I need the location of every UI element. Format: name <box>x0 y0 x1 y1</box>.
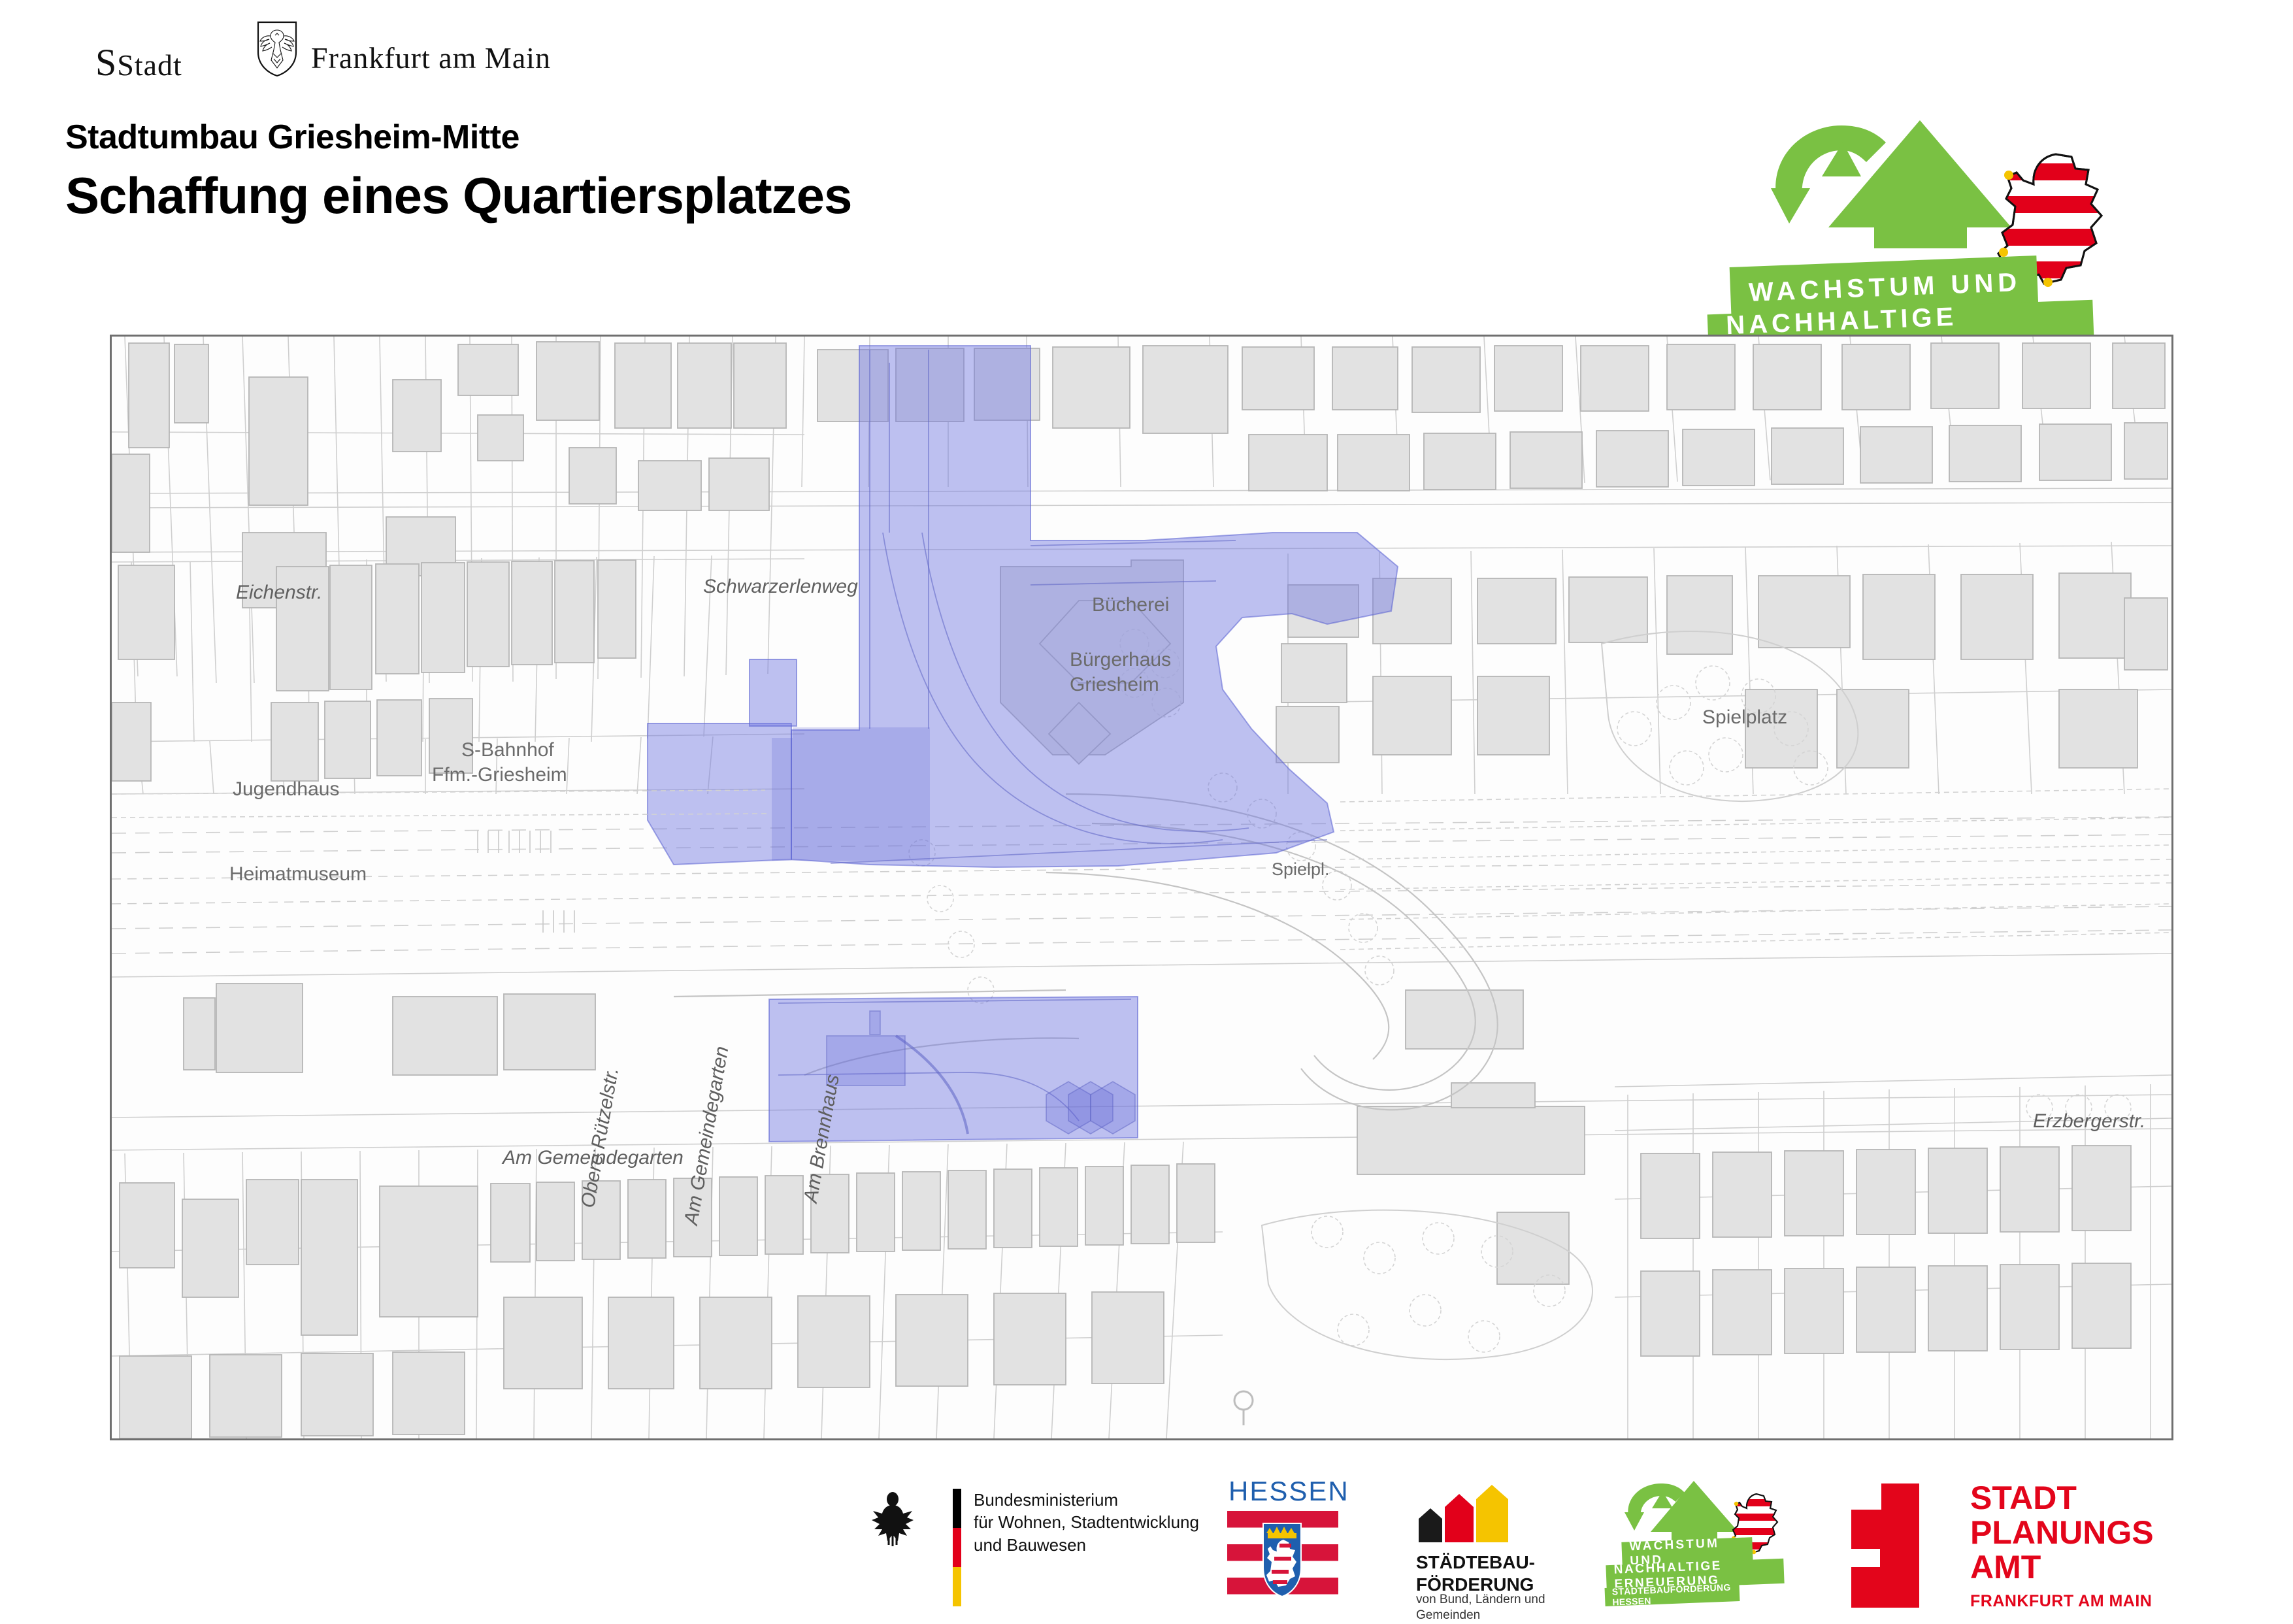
ministry-line-1: Bundesministerium <box>974 1489 1199 1511</box>
project-subtitle: Stadtumbau Griesheim-Mitte <box>65 118 851 157</box>
hessen-wordmark: HESSEN <box>1229 1476 1349 1507</box>
german-flag-bar-icon <box>953 1489 961 1606</box>
hessen-lion-shield-icon <box>1261 1521 1303 1599</box>
poi-label-spielpl: Spielpl. <box>1272 859 1330 880</box>
spa-line-2: PLANUNGS <box>1970 1516 2154 1550</box>
city-of-frankfurt-logo: SStadt Frankfurt am Main <box>95 31 514 77</box>
stadtplanungsamt-logo: STADT PLANUNGS AMT FRANKFURT AM MAIN <box>1839 1470 2245 1621</box>
wachstum-small-line-3: STÄDTEBAUFÖRDERUNG HESSEN <box>1605 1583 1740 1606</box>
poi-label-jugendhaus: Jugendhaus <box>233 778 339 801</box>
city-logo-text-right: Frankfurt am Main <box>311 41 729 75</box>
poi-label-heimatmuseum: Heimatmuseum <box>229 863 367 886</box>
ministry-line-2: für Wohnen, Stadtentwicklung <box>974 1511 1199 1533</box>
ministry-line-3: und Bauwesen <box>974 1534 1199 1556</box>
ministry-name: Bundesministerium für Wohnen, Stadtentwi… <box>974 1489 1199 1556</box>
poi-label-buergerhaus: Bürgerhaus <box>1070 649 1171 671</box>
footer-logo-bar: Bundesministerium für Wohnen, Stadtentwi… <box>0 1470 2293 1621</box>
staedtebau-title: STÄDTEBAU- FÖRDERUNG <box>1416 1551 1535 1596</box>
staedtebau-sub-1: von Bund, Ländern und <box>1416 1592 1545 1608</box>
bundesadler-icon <box>869 1489 916 1548</box>
stadtplanungsamt-mark-icon <box>1839 1483 1944 1608</box>
page-header: SStadt Frankfurt am Main Stadtumbau Grie… <box>0 0 2293 314</box>
spa-subtitle: FRANKFURT AM MAIN <box>1970 1592 2152 1611</box>
street-label-eichenstr: Eichenstr. <box>236 582 322 604</box>
poi-label-ffm-griesheim: Ffm.-Griesheim <box>432 764 567 786</box>
bundesministerium-logo: Bundesministerium für Wohnen, Stadtentwi… <box>869 1470 1235 1621</box>
staedtebau-subtitle: von Bund, Ländern und Gemeinden <box>1416 1592 1545 1624</box>
staedtebau-sub-2: Gemeinden <box>1416 1608 1545 1623</box>
spa-line-3: AMT <box>1970 1550 2154 1585</box>
title-block: Stadtumbau Griesheim-Mitte Schaffung ein… <box>65 118 851 225</box>
map-canvas <box>112 337 2171 1438</box>
staedtebaufoerderung-logo: STÄDTEBAU- FÖRDERUNG von Bund, Ländern u… <box>1408 1470 1578 1621</box>
cadastral-map[interactable]: Eichenstr. Schwarzerlenweg Erzbergerstr.… <box>110 335 2173 1440</box>
wachstum-erneuerung-logo-small: WACHSTUM UND NACHHALTIGE ERNEUERUNG STÄD… <box>1601 1470 1823 1621</box>
page-title: Schaffung eines Quartiersplatzes <box>65 166 851 225</box>
stadtplanungsamt-wordmark: STADT PLANUNGS AMT <box>1970 1481 2154 1585</box>
street-label-erzbergerstr: Erzbergerstr. <box>2033 1110 2145 1133</box>
poi-label-s-bahnhof: S-Bahnhof <box>461 739 554 761</box>
staedtebau-line-1: STÄDTEBAU- <box>1416 1551 1535 1574</box>
street-label-schwarzerlenweg: Schwarzerlenweg <box>703 576 858 598</box>
poi-label-spielplatz: Spielplatz <box>1702 706 1787 729</box>
poi-label-buecherei: Bücherei <box>1092 594 1169 616</box>
spa-line-1: STADT <box>1970 1481 2154 1516</box>
poi-label-griesheim: Griesheim <box>1070 674 1159 696</box>
three-houses-icon <box>1416 1485 1511 1544</box>
hessen-state-logo: HESSEN <box>1215 1470 1359 1621</box>
